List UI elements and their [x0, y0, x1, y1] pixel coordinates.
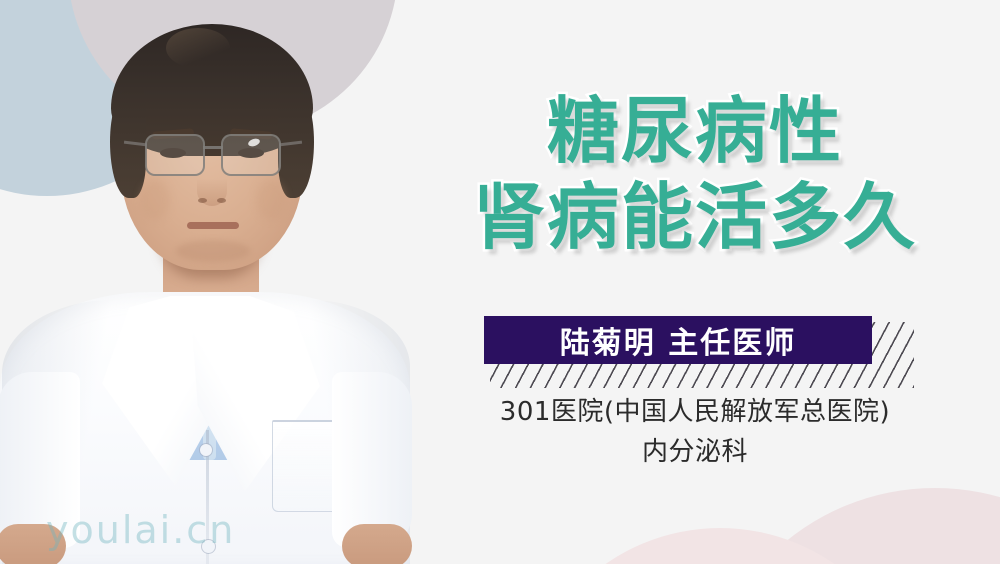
portrait-cheek-left [140, 180, 170, 220]
affiliation-block: 301医院(中国人民解放军总医院) 内分泌科 [430, 392, 960, 472]
portrait-chin-shadow [176, 240, 250, 262]
poster-canvas: 糖尿病性 肾病能活多久 陆菊明 主任医师 301医院(中国人民解放军总医院) 内… [0, 0, 1000, 564]
glasses-bridge-icon [203, 146, 223, 149]
headline-line-2: 肾病能活多久 [430, 174, 960, 260]
portrait-coat-button-upper [200, 444, 212, 456]
site-watermark: youlai.cn [46, 508, 235, 552]
banner-plate: 陆菊明 主任医师 [484, 316, 872, 364]
portrait-nostril-left [198, 198, 207, 203]
glasses-lens-left-icon [145, 134, 205, 176]
portrait-forearm-right [342, 524, 412, 564]
doctor-name-label: 陆菊明 主任医师 [560, 318, 796, 362]
doctor-name-banner: 陆菊明 主任医师 [484, 316, 914, 388]
portrait-cheek-right [256, 180, 286, 220]
portrait-mouth [187, 222, 239, 229]
headline-line-1: 糖尿病性 [430, 88, 960, 174]
affiliation-department: 内分泌科 [430, 432, 960, 472]
portrait-nostril-right [217, 198, 226, 203]
portrait-sleeve-right [332, 372, 412, 548]
headline-block: 糖尿病性 肾病能活多久 [430, 88, 960, 260]
portrait-hair-highlight [166, 28, 230, 68]
affiliation-hospital: 301医院(中国人民解放军总医院) [430, 392, 960, 432]
doctor-portrait [0, 0, 420, 564]
